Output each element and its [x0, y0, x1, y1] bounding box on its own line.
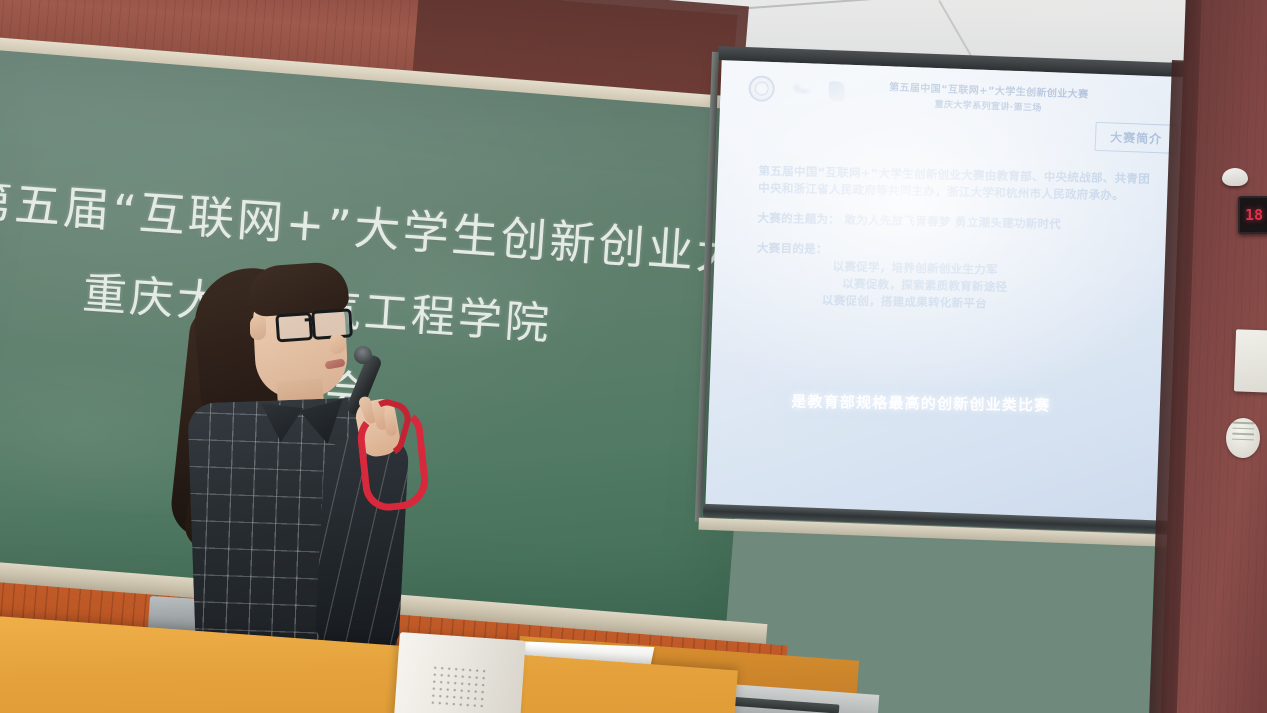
lecture-hall-photo: 第五届“互联网+”大学生创新创业大赛 重庆大学电气工程学院 宣讲会 第五届中国“… — [0, 0, 1267, 713]
wall-notice-sign — [1234, 329, 1267, 392]
slide-purpose-list: 以赛促学，培养创新创业生力军 以赛促教，探索素质教育新途径 以赛促创，搭建成果转… — [756, 257, 1157, 316]
motion-sensor — [1222, 168, 1248, 186]
led-clock-display: 18 — [1238, 196, 1267, 234]
slide-theme-label: 大赛的主题为： — [757, 211, 840, 227]
eyeglass-lens-left — [275, 312, 313, 342]
dove-logo — [789, 80, 814, 101]
slide-header-subtitle: 重庆大学系列宣讲·第三场 — [838, 94, 1138, 120]
sticker-line — [1232, 438, 1254, 440]
emblem-circle-logo — [748, 75, 775, 102]
sticker-line — [1233, 422, 1255, 424]
sticker-line — [1232, 427, 1254, 429]
slide-paragraph-intro: 第五届中国“互联网+”大学生创新创业大赛由教育部、中央统战部、共青团中央和浙江省… — [758, 163, 1159, 205]
slide-theme-text: 敢为人先放飞青春梦 勇立潮头建功新时代 — [844, 213, 1061, 232]
projection-screen: 第五届中国“互联网+”大学生创新创业大赛 重庆大学系列宣讲·第三场 大赛简介 第… — [705, 60, 1193, 525]
slide-logo-row — [748, 75, 845, 105]
computer-vent-holes — [429, 664, 488, 712]
slide-header-title: 第五届中国“互联网+”大学生创新创业大赛 重庆大学系列宣讲·第三场 — [838, 78, 1139, 120]
led-display-value: 18 — [1245, 206, 1263, 224]
ear — [250, 316, 266, 340]
presenter-person — [170, 250, 440, 670]
slide-purpose-row: 大赛目的是： 以赛促学，培养创新创业生力军 以赛促教，探索素质教育新途径 以赛促… — [756, 240, 1157, 316]
slide-theme-row: 大赛的主题为： 敢为人先放飞青春梦 勇立潮头建功新时代 — [757, 210, 1157, 235]
slide-body: 第五届中国“互联网+”大学生创新创业大赛由教育部、中央统战部、共青团中央和浙江省… — [755, 163, 1158, 329]
slide-section-badge: 大赛简介 — [1095, 122, 1178, 154]
projection-screen-assembly: 第五届中国“互联网+”大学生创新创业大赛 重庆大学系列宣讲·第三场 大赛简介 第… — [701, 52, 1198, 539]
slide-purpose-label: 大赛目的是： — [757, 241, 828, 256]
sticker-line — [1232, 433, 1254, 435]
slide-highlight-text: 是教育部规格最高的创新创业类比赛 — [791, 390, 1131, 416]
